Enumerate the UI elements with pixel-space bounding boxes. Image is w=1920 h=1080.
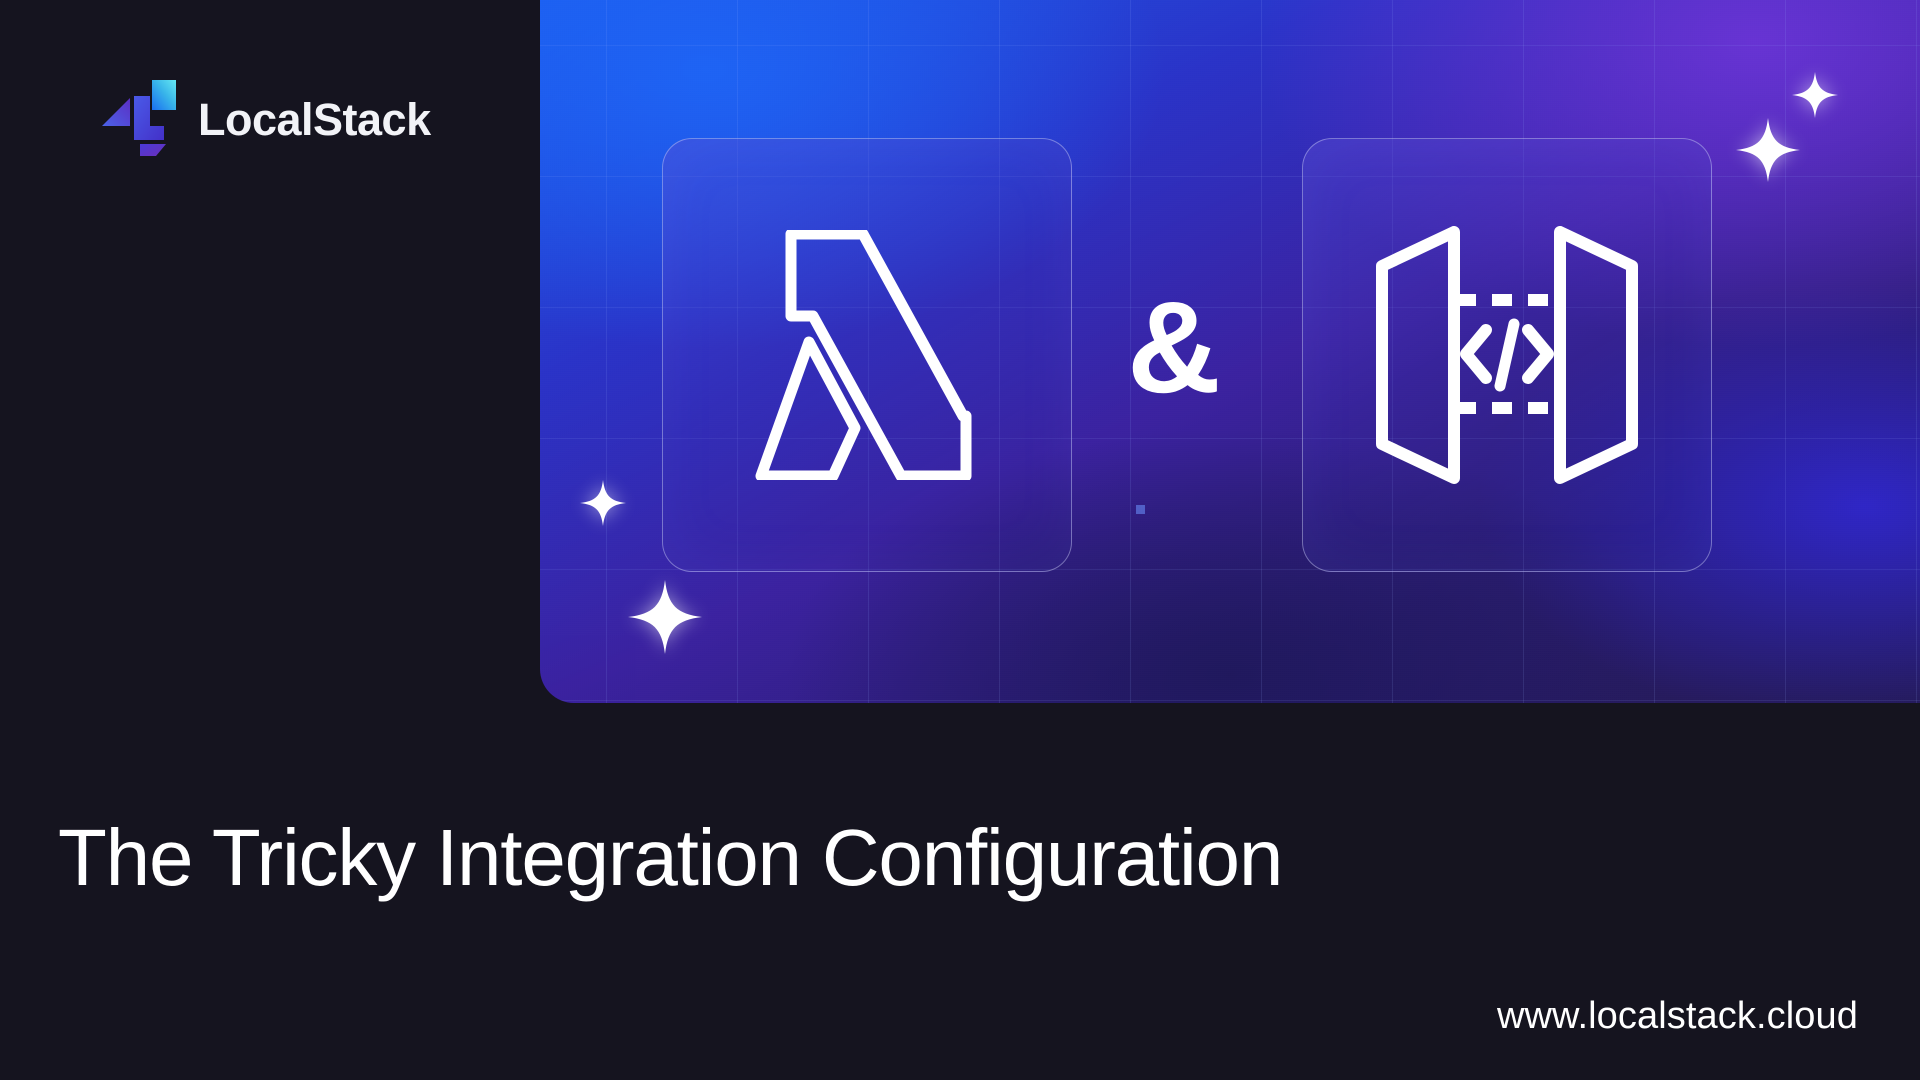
aws-api-gateway-icon	[1376, 226, 1638, 484]
localstack-logo-mark-icon	[100, 78, 176, 160]
aws-lambda-card[interactable]	[662, 138, 1072, 572]
website-url: www.localstack.cloud	[1497, 995, 1858, 1038]
sparkle-icon	[1792, 72, 1838, 118]
sparkle-icon	[580, 480, 626, 526]
brand-name: LocalStack	[198, 97, 431, 142]
aws-api-gateway-card[interactable]	[1302, 138, 1712, 572]
grid-node	[1136, 505, 1145, 514]
aws-lambda-icon	[751, 230, 983, 480]
sparkle-icon	[628, 580, 702, 654]
sparkle-icon	[1736, 118, 1800, 182]
hero-panel: &	[540, 0, 1920, 703]
social-card-canvas: LocalStack &	[0, 0, 1920, 1080]
ampersand-separator: &	[1108, 282, 1240, 412]
brand-logo[interactable]: LocalStack	[100, 78, 431, 160]
headline: The Tricky Integration Configuration	[58, 815, 1282, 901]
